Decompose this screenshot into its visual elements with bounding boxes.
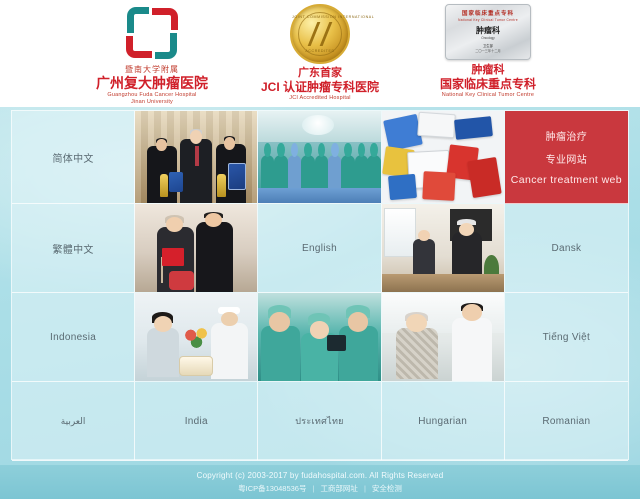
language-selection-stage: 简体中文肿瘤治疗专业网站Cancer treatment web繁體中文Engl… [0, 107, 640, 465]
photo-surgical-team[interactable] [258, 111, 381, 204]
promo-cancer-treatment-web[interactable]: 肿瘤治疗专业网站Cancer treatment web [505, 111, 628, 204]
language-label: Tiếng Việt [543, 332, 590, 343]
lang-indonesia[interactable]: Indonesia [12, 293, 135, 382]
photo-patient-with-flag-image [135, 204, 257, 292]
photo-award-ceremony[interactable] [135, 111, 258, 204]
jci-name-cn: JCI 认证肿瘤专科医院 [261, 80, 379, 95]
lang-simplified-chinese[interactable]: 简体中文 [12, 111, 135, 204]
footer-icp-link[interactable]: 粤ICP备13048536号 [238, 483, 306, 494]
language-label: 简体中文 [52, 150, 93, 165]
language-label: English [302, 243, 337, 254]
footer-separator-2: | [364, 484, 366, 493]
nk-name-en: National Key Clinical Tumor Centre [442, 92, 534, 99]
fuda-name-cn: 广州复大肿瘤医院 [96, 75, 208, 92]
promo-line2: 专业网站 [546, 151, 588, 166]
language-label: Hungarian [418, 416, 467, 427]
photo-surgical-team-image [258, 111, 380, 203]
lang-tieng-viet[interactable]: Tiếng Việt [505, 293, 628, 382]
plaque-dept-en: Oncology [481, 36, 494, 41]
lang-traditional-chinese[interactable]: 繁體中文 [12, 204, 135, 293]
jci-seal-arc-bottom: ACCREDITED [292, 49, 348, 53]
jci-title-cn: 广东首家 [298, 66, 342, 80]
fuda-name-en-2: Jinan University [131, 99, 173, 106]
logo-fuda-hospital[interactable]: 暨南大学附属 广州复大肿瘤医院 Guangzhou Fuda Cancer Ho… [77, 4, 227, 106]
photo-certificates[interactable] [382, 111, 505, 204]
lang-hungarian[interactable]: Hungarian [382, 382, 505, 461]
site-header: 暨南大学附属 广州复大肿瘤医院 Guangzhou Fuda Cancer Ho… [0, 0, 640, 107]
language-grid: 简体中文肿瘤治疗专业网站Cancer treatment web繁體中文Engl… [11, 110, 629, 460]
language-label: India [185, 416, 208, 427]
photo-operating-room[interactable] [258, 293, 381, 382]
plaque-arc-en: National Key Clinical Tumor Centre [458, 18, 518, 23]
language-label: العربية [61, 416, 86, 427]
footer-copyright: Copyright (c) 2003-2017 by fudahospital.… [197, 471, 444, 480]
logo-jci-accredited[interactable]: JOINT COMMISSION INTERNATIONAL ACCREDITE… [245, 4, 395, 102]
promo-line1: 肿瘤治疗 [546, 128, 588, 143]
logo-national-key-specialty[interactable]: 国家临床重点专科 National Key Clinical Tumor Cen… [413, 4, 563, 99]
jci-seal-arc-top: JOINT COMMISSION INTERNATIONAL [292, 15, 348, 19]
lang-romanian[interactable]: Romanian [505, 382, 628, 461]
national-key-plaque-icon: 国家临床重点专科 National Key Clinical Tumor Cen… [445, 4, 531, 60]
language-label: 繁體中文 [52, 241, 93, 256]
lang-arabic[interactable]: العربية [12, 382, 135, 461]
language-label: Dansk [551, 243, 581, 254]
nk-title-cn: 肿瘤科 [472, 63, 505, 77]
photo-operating-room-image [258, 293, 380, 381]
photo-award-ceremony-image [135, 111, 257, 203]
lang-india[interactable]: India [135, 382, 258, 461]
photo-certificates-image [382, 111, 504, 203]
photo-birthday-cake[interactable] [135, 293, 258, 382]
site-footer: Copyright (c) 2003-2017 by fudahospital.… [0, 465, 640, 499]
photo-patient-with-flag[interactable] [135, 204, 258, 293]
jci-name-en: JCI Accredited Hospital [289, 95, 350, 102]
language-label: ประเทศไทย [295, 414, 344, 428]
nk-name-cn: 国家临床重点专科 [440, 77, 536, 92]
photo-consultation-image [382, 204, 504, 292]
promo-line3: Cancer treatment web [511, 174, 622, 186]
footer-separator-1: | [312, 484, 314, 493]
lang-dansk[interactable]: Dansk [505, 204, 628, 293]
fuda-name-en-1: Guangzhou Fuda Cancer Hospital [107, 92, 196, 99]
lang-thai[interactable]: ประเทศไทย [258, 382, 381, 461]
photo-consultation[interactable] [382, 204, 505, 293]
language-label: Romanian [542, 416, 590, 427]
lang-english[interactable]: English [258, 204, 381, 293]
plaque-arc-cn: 国家临床重点专科 [462, 11, 514, 18]
photo-ward-visit[interactable] [382, 293, 505, 382]
photo-ward-visit-image [382, 293, 504, 381]
photo-birthday-cake-image [135, 293, 257, 381]
footer-security-link[interactable]: 安全检测 [372, 483, 402, 494]
footer-links: 粤ICP备13048536号 | 工商部网址 | 安全检测 [238, 483, 402, 494]
plaque-dept-cn: 肿瘤科 [476, 25, 500, 36]
fuda-pinwheel-logo-icon [123, 4, 181, 62]
jci-gold-seal-icon: JOINT COMMISSION INTERNATIONAL ACCREDITE… [290, 4, 350, 64]
language-label: Indonesia [50, 332, 96, 343]
fuda-affiliate-cn: 暨南大学附属 [125, 65, 179, 75]
footer-gov-link[interactable]: 工商部网址 [320, 483, 358, 494]
plaque-date: 二〇一三年十二月 [475, 49, 501, 54]
